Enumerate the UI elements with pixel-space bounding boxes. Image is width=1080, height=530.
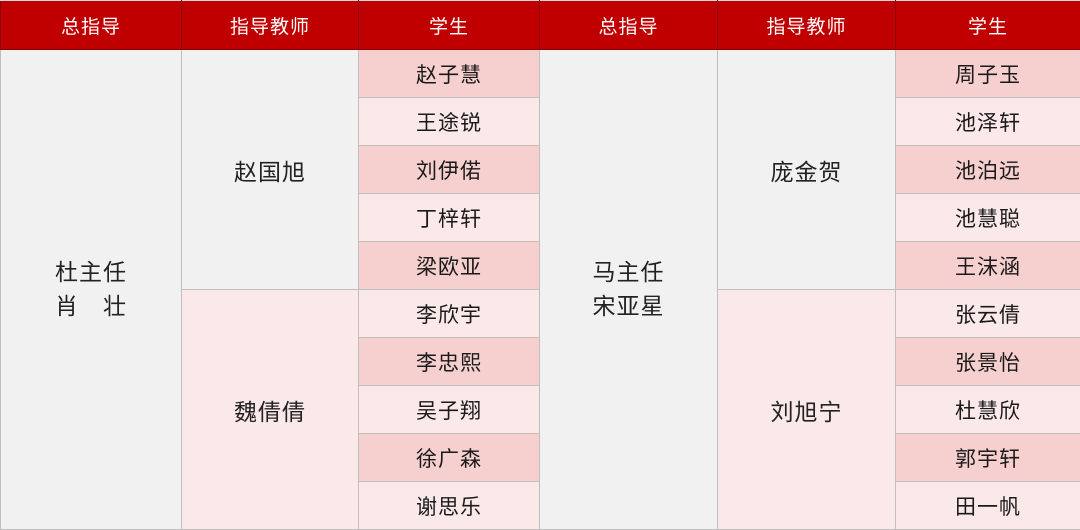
table-body: 杜主任 肖 壮 赵国旭 赵子慧 马主任 宋亚星 庞金贺 周子玉 王途锐 池泽轩 … bbox=[1, 50, 1080, 530]
table-header-row: 总指导 指导教师 学生 总指导 指导教师 学生 bbox=[1, 1, 1080, 50]
table-row: 杜主任 肖 壮 赵国旭 赵子慧 马主任 宋亚星 庞金贺 周子玉 bbox=[1, 50, 1080, 98]
student-cell: 张景怡 bbox=[896, 338, 1080, 386]
column-header-teacher-left: 指导教师 bbox=[182, 1, 359, 50]
student-cell: 李忠熙 bbox=[359, 338, 540, 386]
student-cell: 赵子慧 bbox=[359, 50, 540, 98]
student-cell: 谢思乐 bbox=[359, 482, 540, 530]
student-cell: 李欣宇 bbox=[359, 290, 540, 338]
teacher-cell-pangjinhe: 庞金贺 bbox=[718, 50, 896, 290]
student-cell: 周子玉 bbox=[896, 50, 1080, 98]
column-header-teacher-right: 指导教师 bbox=[718, 1, 896, 50]
teacher-cell-weiqianqian: 魏倩倩 bbox=[182, 290, 359, 530]
student-cell: 吴子翔 bbox=[359, 386, 540, 434]
student-cell: 徐广森 bbox=[359, 434, 540, 482]
student-cell: 王沫涵 bbox=[896, 242, 1080, 290]
student-cell: 刘伊偌 bbox=[359, 146, 540, 194]
column-header-student-left: 学生 bbox=[359, 1, 540, 50]
student-cell: 田一帆 bbox=[896, 482, 1080, 530]
student-cell: 张云倩 bbox=[896, 290, 1080, 338]
director-cell-left: 杜主任 肖 壮 bbox=[1, 50, 182, 530]
student-cell: 丁梓轩 bbox=[359, 194, 540, 242]
column-header-director-right: 总指导 bbox=[540, 1, 718, 50]
student-cell: 梁欧亚 bbox=[359, 242, 540, 290]
teacher-cell-liuxuning: 刘旭宁 bbox=[718, 290, 896, 530]
student-cell: 王途锐 bbox=[359, 98, 540, 146]
student-cell: 池泽轩 bbox=[896, 98, 1080, 146]
teacher-cell-zhaoguoxu: 赵国旭 bbox=[182, 50, 359, 290]
column-header-director-left: 总指导 bbox=[1, 1, 182, 50]
student-cell: 郭宇轩 bbox=[896, 434, 1080, 482]
column-header-student-right: 学生 bbox=[896, 1, 1080, 50]
assignment-table: 总指导 指导教师 学生 总指导 指导教师 学生 杜主任 肖 壮 赵国旭 赵子慧 … bbox=[0, 0, 1080, 530]
student-cell: 杜慧欣 bbox=[896, 386, 1080, 434]
student-cell: 池泊远 bbox=[896, 146, 1080, 194]
director-cell-right: 马主任 宋亚星 bbox=[540, 50, 718, 530]
student-cell: 池慧聪 bbox=[896, 194, 1080, 242]
